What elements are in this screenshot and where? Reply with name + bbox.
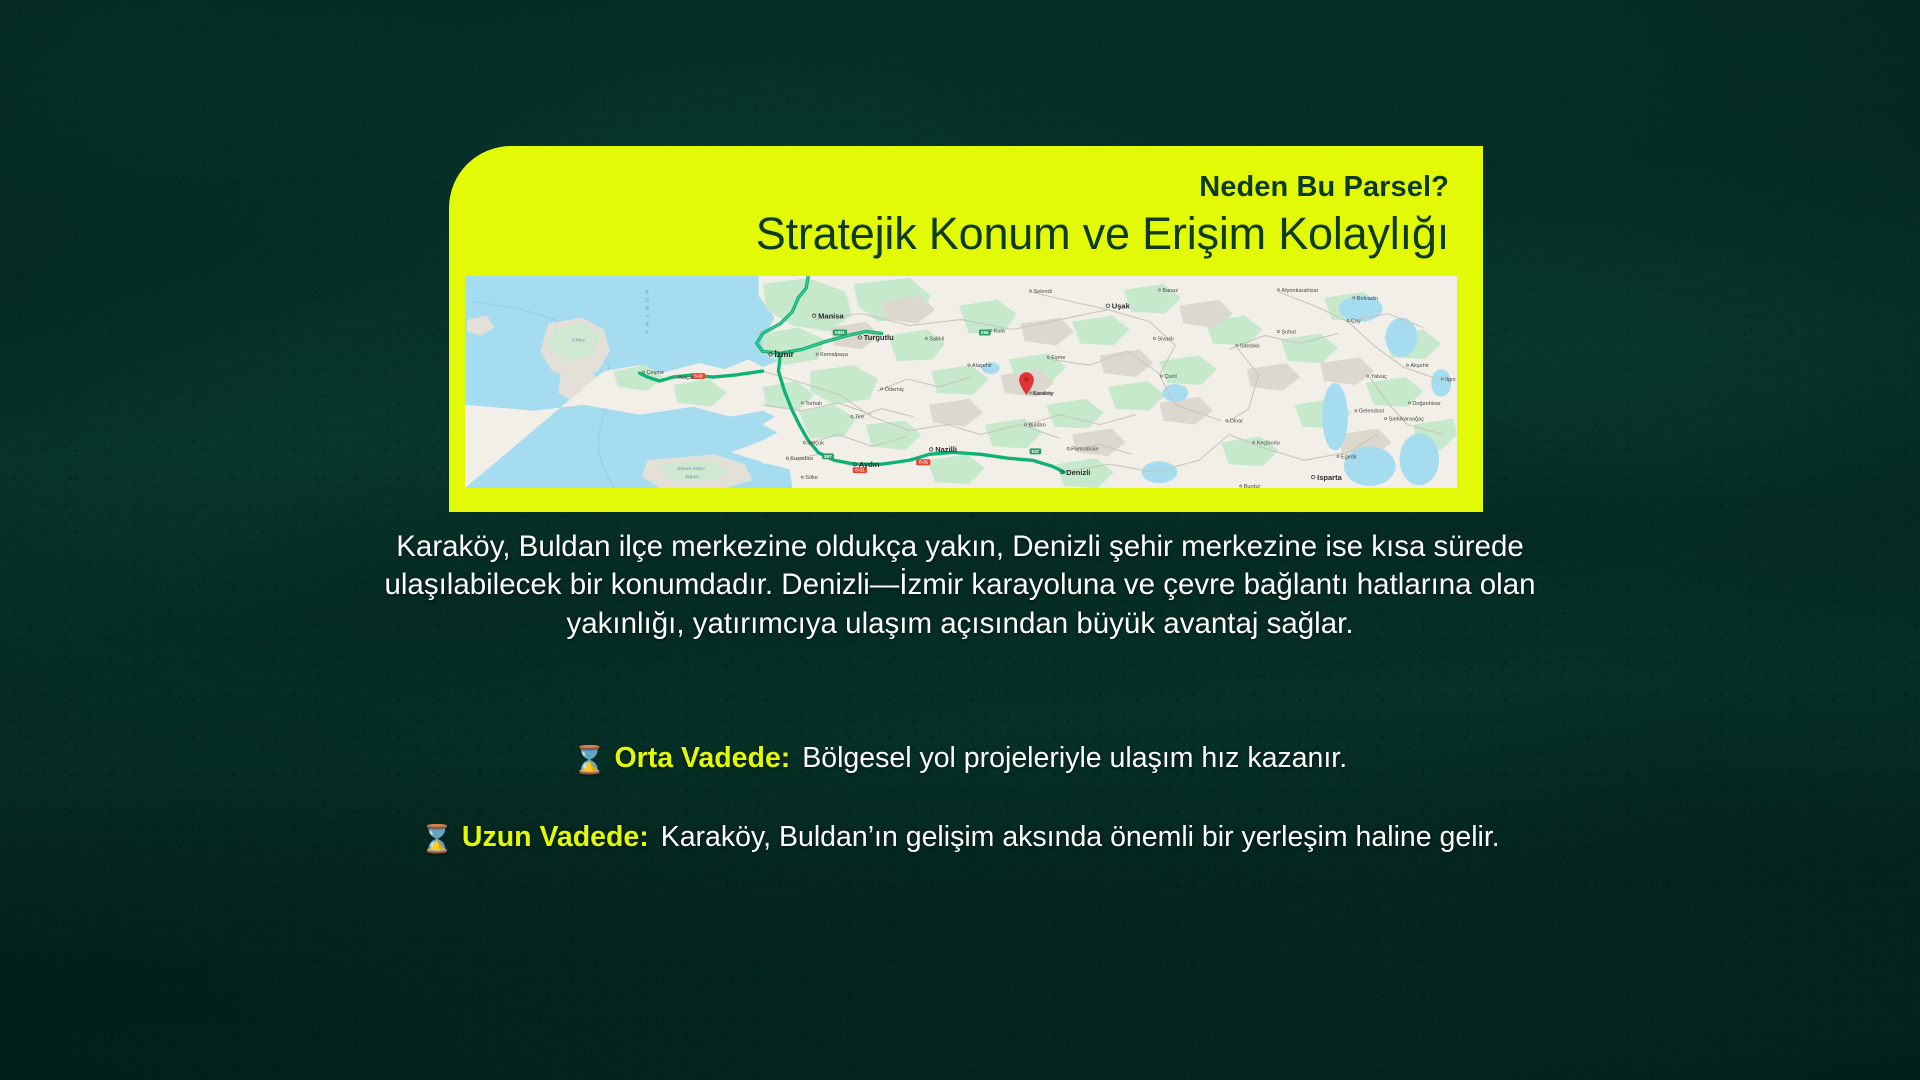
map-city-ak-ehir: Akşehir [1406, 363, 1429, 369]
svg-text:Eğirdir: Eğirdir [1341, 454, 1357, 460]
map-city--demi-: Ödemiş [881, 386, 904, 393]
map-city-gelendost: Gelendost [1355, 409, 1385, 415]
svg-text:Eşme: Eşme [1051, 355, 1065, 361]
svg-text:Söke: Söke [805, 475, 818, 481]
map-city-burdur: Burdur [1240, 484, 1261, 488]
body-copy-block: Karaköy, Buldan ilçe merkezine oldukça y… [360, 528, 1560, 643]
map-city--arkikaraa-a-: Şarkikaraağaç [1384, 417, 1424, 423]
svg-text:Şarkikaraağaç: Şarkikaraağaç [1389, 417, 1425, 423]
svg-text:Dinar: Dinar [1230, 419, 1243, 425]
map-city-buldan: Buldan [1024, 423, 1045, 429]
svg-text:Ilgın: Ilgın [1445, 377, 1456, 383]
card-kicker: Neden Bu Parsel? [756, 146, 1449, 202]
map-city-torbal-: Torbalı [801, 401, 822, 407]
sea-label-samos-2: Σάμος [684, 474, 699, 480]
term-list: ⌛Orta Vadede: Bölgesel yol projeleriyle … [360, 740, 1560, 897]
svg-text:Aydın: Aydın [859, 460, 880, 469]
map-city-sel-uk: Selçuk [803, 440, 824, 446]
map-city-sand-kl-: Sandıklı [1236, 343, 1261, 349]
svg-text:Alaşehir: Alaşehir [972, 363, 992, 369]
svg-text:E87: E87 [824, 454, 832, 459]
svg-text:Akşehir: Akşehir [1410, 363, 1429, 369]
map-road-shield-e87: E87 [1030, 448, 1042, 454]
term-text-orta-vadede: Bölgesel yol projeleriyle ulaşım hız kaz… [802, 742, 1347, 774]
hourglass-icon: ⌛ [573, 745, 607, 776]
svg-text:Nazilli: Nazilli [935, 445, 957, 454]
term-row-orta-vadede: ⌛Orta Vadede: Bölgesel yol projeleriyle … [360, 740, 1560, 779]
svg-text:O-31: O-31 [919, 460, 929, 465]
svg-text:Torbalı: Torbalı [805, 401, 822, 407]
map-road-shield-e881: E881 [833, 329, 847, 335]
map-city-afyonkarahisar: Afyonkarahisar [1277, 288, 1318, 294]
svg-text:Gelendost: Gelendost [1359, 409, 1385, 415]
svg-text:Turgutlu: Turgutlu [864, 333, 894, 342]
svg-text:Manisa: Manisa [818, 311, 844, 320]
map-city-ke-iborlu: Keçiborlu [1253, 440, 1280, 446]
svg-text:Isparta: Isparta [1317, 473, 1342, 482]
svg-text:Pamukkale: Pamukkale [1071, 446, 1098, 452]
svg-text:Keçiborlu: Keçiborlu [1257, 440, 1280, 446]
map-city-bolvadin: Bolvadin [1353, 296, 1378, 302]
svg-text:Denizli: Denizli [1066, 468, 1090, 477]
term-label-uzun-vadede: Uzun Vadede: [462, 821, 649, 853]
svg-text:Selçuk: Selçuk [807, 440, 824, 446]
marker-pin-dot [1024, 377, 1029, 382]
svg-text:Sandıklı: Sandıklı [1240, 343, 1261, 349]
map-image[interactable]: O-32E881E96E87O-31O-31E87 ManisaTurgutlu… [465, 276, 1457, 488]
hero-card: Neden Bu Parsel? Stratejik Konum ve Eriş… [449, 146, 1483, 512]
svg-text:Banaz: Banaz [1162, 288, 1178, 294]
svg-text:Şuhut: Şuhut [1281, 329, 1296, 335]
svg-text:E96: E96 [981, 330, 989, 335]
svg-text:Çay: Çay [1351, 319, 1361, 325]
svg-text:Salihli: Salihli [929, 336, 944, 342]
map-city-kemalpa-a: Kemalpaşa [816, 352, 849, 358]
svg-text:E881: E881 [835, 330, 845, 335]
map-canvas: O-32E881E96E87O-31O-31E87 ManisaTurgutlu… [465, 276, 1457, 488]
svg-text:Kuşadası: Kuşadası [790, 456, 814, 462]
svg-text:Ödemiş: Ödemiş [885, 386, 904, 393]
svg-text:Bolvadin: Bolvadin [1357, 296, 1378, 302]
hourglass-icon: ⌛ [420, 824, 454, 855]
svg-text:Kemalpaşa: Kemalpaşa [820, 352, 849, 358]
map-city-manisa: Manisa [812, 311, 844, 320]
map-city--e-me: Çeşme [642, 370, 664, 376]
svg-text:İzmir: İzmir [775, 349, 795, 359]
svg-text:Doğanhisar: Doğanhisar [1412, 401, 1441, 407]
term-row-uzun-vadede: ⌛Uzun Vadede: Karaköy, Buldan’ın gelişim… [360, 819, 1560, 858]
map-city-selendi: Selendi [1029, 289, 1052, 295]
term-text-uzun-vadede: Karaköy, Buldan’ın gelişim aksında öneml… [661, 821, 1500, 853]
svg-text:N O R T H A: N O R T H A [644, 290, 650, 335]
card-heading-block: Neden Bu Parsel? Stratejik Konum ve Eriş… [756, 146, 1449, 259]
map-road-shield-o-31: O-31 [916, 459, 930, 465]
svg-text:Tire: Tire [855, 415, 864, 421]
map-city-ku-adas-: Kuşadası [786, 456, 814, 462]
map-svg: O-32E881E96E87O-31O-31E87 ManisaTurgutlu… [465, 276, 1457, 488]
map-city-sivasl-: Sivaslı [1153, 336, 1174, 342]
svg-text:Sivaslı: Sivaslı [1157, 336, 1174, 342]
map-marker-label-karakoy: Karaköy [1032, 391, 1053, 397]
map-city-turgutlu: Turgutlu [858, 333, 894, 342]
map-road-shield-e96: E96 [979, 329, 991, 335]
svg-text:E87: E87 [1032, 449, 1040, 454]
svg-text:Buldan: Buldan [1028, 423, 1045, 429]
map-city-ala-ehir: Alaşehir [968, 363, 992, 369]
body-paragraph: Karaköy, Buldan ilçe merkezine oldukça y… [360, 528, 1560, 643]
svg-text:Afyonkarahisar: Afyonkarahisar [1281, 288, 1318, 294]
page-title: Stratejik Konum ve Erişim Kolaylığı [756, 208, 1449, 259]
map-city-ala-at-: Alaçatı [674, 375, 695, 381]
svg-text:Uşak: Uşak [1112, 301, 1131, 310]
sea-label-north-aegean: N O R T H A [644, 290, 650, 335]
svg-text:Kula: Kula [994, 328, 1006, 334]
map-city-do-anhisar: Doğanhisar [1408, 401, 1441, 407]
term-label-orta-vadede: Orta Vadede: [614, 742, 790, 774]
svg-text:Alaçatı: Alaçatı [678, 375, 695, 381]
sea-label-chios: Chios [572, 337, 585, 343]
svg-text:Çeşme: Çeşme [647, 370, 665, 376]
svg-text:Burdur: Burdur [1244, 484, 1261, 488]
svg-text:Selendi: Selendi [1033, 289, 1052, 295]
map-road-shield-e87: E87 [822, 453, 834, 459]
map-city-pamukkale: Pamukkale [1067, 446, 1099, 452]
svg-text:Yalvaç: Yalvaç [1371, 374, 1387, 380]
svg-text:Çivril: Çivril [1164, 374, 1176, 380]
sea-label-samos-1: Sisam Adası [677, 466, 705, 472]
